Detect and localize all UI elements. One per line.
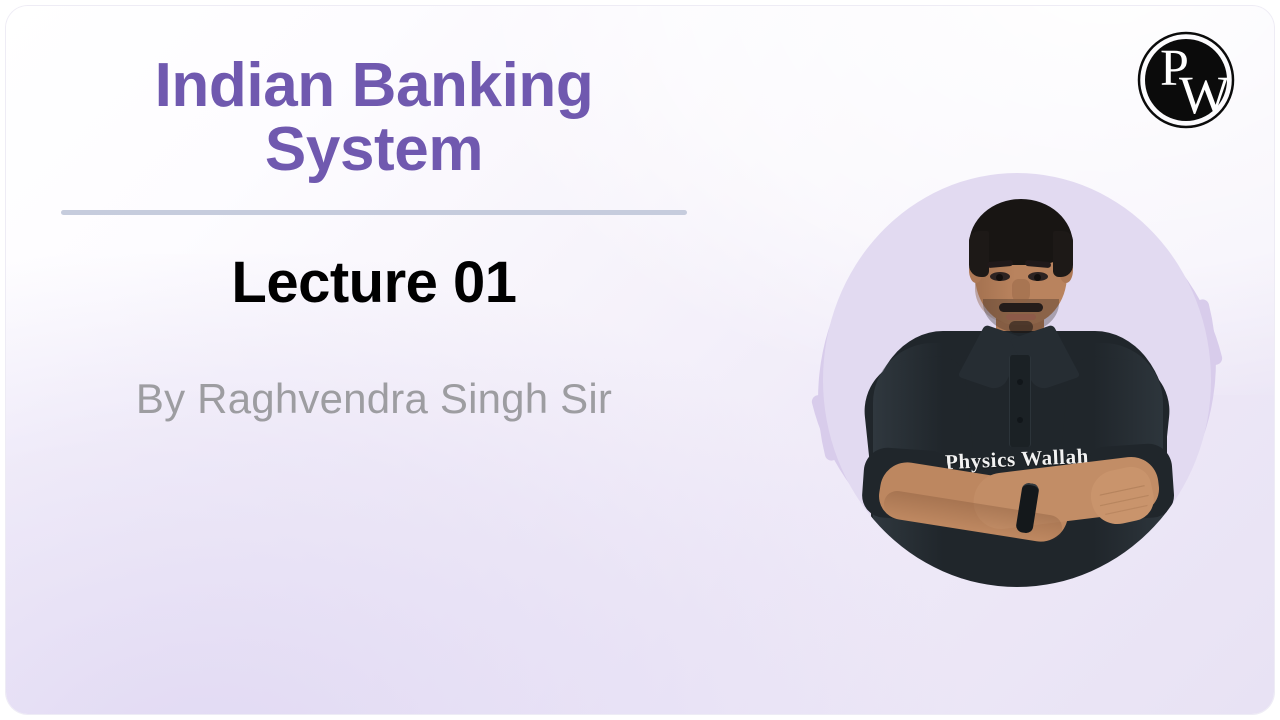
slide-frame: Indian Banking System Lecture 01 By Ragh… [0,0,1280,720]
hair-sideburn-left [969,231,989,277]
instructor-figure: Physics Wallah [823,173,1211,587]
course-title: Indian Banking System [58,54,690,182]
title-divider [61,210,687,215]
pw-logo: P W [1136,30,1236,130]
shirt-button-top [1017,379,1023,385]
hair-sideburn-right [1053,231,1073,277]
title-block: Indian Banking System Lecture 01 By Ragh… [58,54,690,422]
nose [1012,279,1030,303]
mustache [999,303,1043,312]
mouth [1006,314,1036,320]
slide-card: Indian Banking System Lecture 01 By Ragh… [6,6,1274,714]
pupil-left [996,274,1003,281]
presenter-name: By Raghvendra Singh Sir [58,376,690,422]
pupil-right [1034,274,1041,281]
pw-logo-letters: P W [1136,30,1236,130]
shirt-button-bottom [1017,417,1023,423]
chin-beard-patch [1009,321,1033,333]
disc-bottom-edge [823,577,1211,587]
pw-letter-w: W [1179,68,1230,122]
lecture-number: Lecture 01 [58,253,690,314]
portrait-disc: Physics Wallah [823,173,1211,587]
shirt-placket [1009,355,1031,447]
instructor-portrait: Physics Wallah [801,149,1233,611]
